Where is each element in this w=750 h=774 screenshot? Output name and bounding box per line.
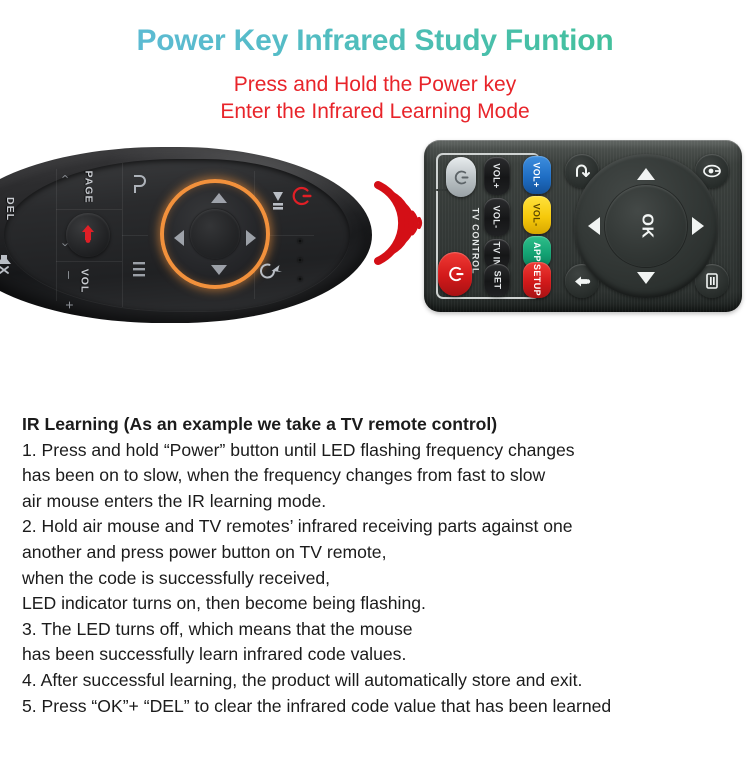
- tv-control-label: TV CONTROL: [470, 208, 480, 275]
- home-icon: [572, 273, 592, 290]
- instruction-line: 2. Hold air mouse and TV remotes’ infrar…: [22, 514, 736, 540]
- instruction-line: has been on to slow, when the frequency …: [22, 463, 736, 489]
- back-icon[interactable]: [130, 173, 148, 202]
- button-label: VOL-: [492, 205, 502, 228]
- instruction-line: 1. Press and hold “Power” button until L…: [22, 438, 736, 464]
- dpad-ok-button[interactable]: OK: [605, 185, 687, 267]
- keypad-divider: [122, 235, 148, 236]
- dpad-left-button[interactable]: [174, 230, 184, 246]
- button-label: SETUP: [532, 264, 542, 296]
- menu-icon[interactable]: [130, 259, 148, 290]
- power-icon: [453, 169, 470, 185]
- dpad[interactable]: [160, 179, 270, 289]
- power-icon[interactable]: [290, 185, 312, 214]
- vol-up-button[interactable]: VOL+: [523, 156, 551, 194]
- page-subtitle: Press and Hold the Power key Enter the I…: [0, 71, 750, 125]
- button-label: VOL+: [492, 163, 502, 188]
- mute-icon[interactable]: [0, 253, 16, 280]
- instruction-line: when the code is successfully received,: [22, 566, 736, 592]
- subtitle-line-1: Press and Hold the Power key: [0, 71, 750, 98]
- vol-label: VOL: [78, 269, 90, 294]
- dpad-right-button[interactable]: [692, 217, 704, 235]
- instruction-line: 5. Press “OK”+ “DEL” to clear the infrar…: [22, 694, 736, 720]
- home-button[interactable]: [66, 213, 110, 257]
- button-label: SET: [492, 271, 502, 290]
- mouse-toggle-icon[interactable]: [260, 259, 286, 288]
- button-label: VOL+: [532, 162, 542, 187]
- back-icon: [573, 163, 591, 179]
- home-icon: [76, 223, 100, 248]
- keypad-divider: [56, 209, 122, 210]
- menu-icon: [704, 272, 720, 290]
- tv-box-remote: TV CONTROL VOL+ VOL- TV IN SET: [424, 140, 742, 312]
- dpad-left-button[interactable]: [588, 217, 600, 235]
- instructions-heading: IR Learning (As an example we take a TV …: [22, 412, 736, 438]
- led-dot: [298, 239, 302, 243]
- led-dot: [298, 277, 302, 281]
- button-label: APP: [532, 242, 542, 262]
- instruction-line: air mouse enters the IR learning mode.: [22, 489, 736, 515]
- vol-up-button[interactable]: +: [62, 301, 78, 309]
- ok-label: OK: [637, 214, 655, 239]
- tv-set-button[interactable]: SET: [484, 264, 510, 296]
- keypad-divider: [56, 261, 122, 262]
- dpad-down-button[interactable]: [211, 265, 227, 275]
- fast-forward-icon[interactable]: [262, 187, 284, 218]
- instruction-line: has been successfully learn infrared cod…: [22, 642, 736, 668]
- dpad[interactable]: OK: [574, 154, 718, 298]
- led-dot: [298, 258, 302, 262]
- button-label: VOL-: [532, 203, 542, 226]
- mouse-icon: [702, 163, 722, 179]
- power-icon: [446, 266, 464, 283]
- power-button[interactable]: [438, 252, 472, 296]
- instruction-line: another and press power button on TV rem…: [22, 540, 736, 566]
- device-illustration: DEL PAGE ‹ › VOL – +: [0, 139, 750, 339]
- dpad-up-button[interactable]: [211, 193, 227, 203]
- instruction-line: 4. After successful learning, the produc…: [22, 668, 736, 694]
- page-title: Power Key Infrared Study Funtion: [0, 24, 750, 58]
- instruction-line: 3. The LED turns off, which means that t…: [22, 617, 736, 643]
- vol-down-button[interactable]: –: [62, 271, 78, 279]
- led-indicator-dots: [298, 239, 302, 296]
- dpad-down-button[interactable]: [637, 272, 655, 284]
- instruction-line: LED indicator turns on, then become bein…: [22, 591, 736, 617]
- keypad-divider: [56, 169, 57, 301]
- page-label: PAGE: [82, 171, 94, 204]
- infrared-signal-waves: [370, 177, 426, 269]
- del-label[interactable]: DEL: [4, 197, 16, 221]
- tv-power-button[interactable]: [446, 157, 476, 197]
- subtitle-line-2: Enter the Infrared Learning Mode: [0, 98, 750, 125]
- vol-down-button[interactable]: VOL-: [523, 196, 551, 234]
- instructions-block: IR Learning (As an example we take a TV …: [22, 412, 736, 719]
- dpad-ok-button[interactable]: [190, 209, 240, 259]
- dpad-right-button[interactable]: [246, 230, 256, 246]
- page-prev-button[interactable]: ‹: [59, 174, 74, 178]
- button-label: TV IN: [492, 241, 502, 266]
- dpad-up-button[interactable]: [637, 168, 655, 180]
- tv-vol-down-button[interactable]: VOL-: [484, 198, 510, 236]
- setup-button[interactable]: SETUP: [523, 262, 551, 298]
- tv-vol-up-button[interactable]: VOL+: [484, 157, 510, 195]
- air-mouse-remote: DEL PAGE ‹ › VOL – +: [0, 147, 372, 323]
